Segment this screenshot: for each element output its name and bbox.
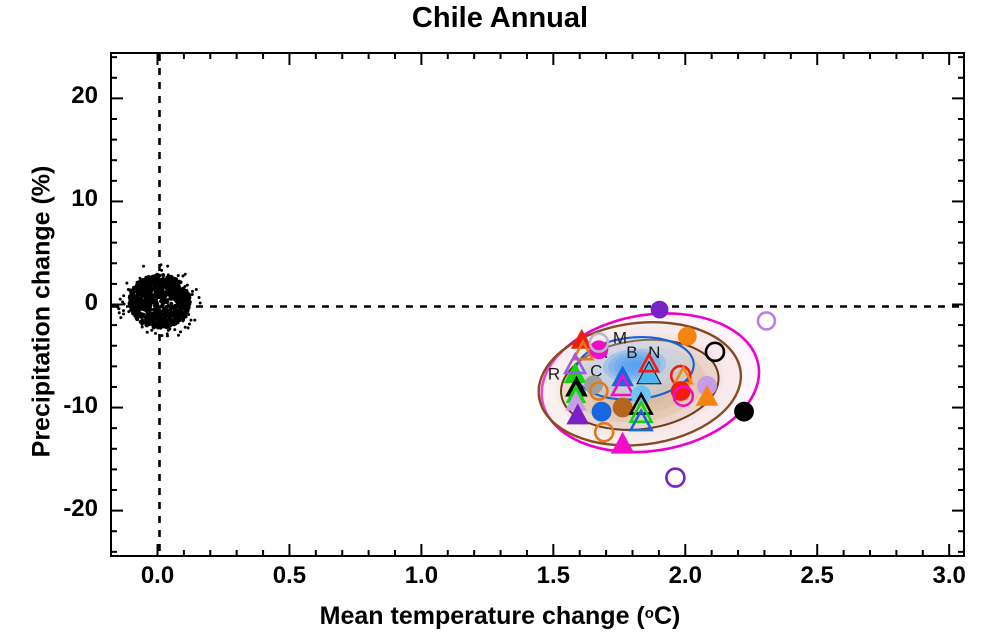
cluster-letter-B: B	[626, 343, 637, 362]
cluster-letter-N: N	[648, 343, 660, 362]
control-point	[156, 321, 160, 325]
xtick-label: 2.0	[645, 562, 725, 590]
control-point	[130, 302, 134, 306]
control-point-outlier	[188, 323, 191, 326]
control-point	[174, 278, 178, 282]
control-point	[161, 277, 165, 281]
control-point-outlier	[184, 273, 187, 276]
control-point-outlier	[166, 332, 169, 335]
cluster-letter-M: M	[613, 329, 627, 348]
control-point-outlier	[122, 313, 125, 316]
control-point-outlier	[193, 319, 196, 322]
control-point-outlier	[154, 332, 157, 335]
cluster-letter-R: R	[548, 365, 560, 384]
purple-open-circle-bottom[interactable]	[666, 469, 684, 487]
control-point-outlier	[168, 328, 171, 331]
black-filled-circle-right[interactable]	[735, 402, 754, 421]
control-point	[152, 313, 156, 317]
control-point-outlier	[160, 334, 163, 337]
control-point	[147, 322, 151, 326]
control-point	[167, 310, 171, 314]
control-point	[145, 293, 149, 297]
control-point-outlier	[187, 326, 190, 329]
page-title: Chile Annual	[0, 2, 1000, 35]
control-point	[154, 274, 158, 278]
control-point	[136, 310, 140, 314]
control-point-outlier	[173, 328, 176, 331]
xtick-label: 3.0	[909, 562, 989, 590]
xtick-label: 0.0	[118, 562, 198, 590]
scatter-canvas: MBANCR	[112, 54, 963, 555]
plot-area: MBANCR	[110, 52, 965, 557]
control-point	[141, 288, 145, 292]
control-point-outlier	[150, 329, 153, 332]
blue-filled-circle[interactable]	[592, 402, 611, 421]
control-point	[161, 273, 165, 277]
control-point	[169, 285, 173, 289]
control-point	[132, 286, 136, 290]
control-point-outlier	[188, 302, 191, 305]
control-point-outlier	[184, 326, 187, 329]
control-point	[176, 321, 180, 325]
control-point	[143, 299, 147, 303]
control-point	[129, 293, 133, 297]
control-point-outlier	[122, 294, 125, 297]
control-point	[182, 295, 186, 299]
control-point	[149, 308, 153, 312]
control-point-outlier	[118, 311, 121, 314]
control-point	[157, 315, 161, 319]
control-point-outlier	[199, 302, 202, 305]
control-point	[153, 279, 157, 283]
control-point-outlier	[187, 313, 190, 316]
control-point	[164, 324, 168, 328]
control-point	[148, 276, 152, 280]
control-point	[156, 283, 160, 287]
xtick-label: 1.0	[381, 562, 461, 590]
control-point	[161, 309, 165, 313]
control-point-outlier	[189, 319, 192, 322]
control-point	[178, 306, 182, 310]
control-point	[141, 292, 145, 296]
control-point-outlier	[122, 309, 125, 312]
control-point	[171, 291, 175, 295]
control-point	[175, 300, 179, 304]
control-point-outlier	[166, 265, 169, 268]
control-point-outlier	[191, 290, 194, 293]
control-point	[162, 299, 166, 303]
control-point	[157, 292, 161, 296]
control-point	[177, 288, 181, 292]
control-point	[146, 312, 150, 316]
control-point-outlier	[127, 310, 130, 313]
control-point	[177, 285, 181, 289]
control-point	[135, 317, 139, 321]
control-point	[152, 325, 156, 329]
control-point	[177, 296, 181, 300]
control-point	[166, 276, 170, 280]
control-point-outlier	[159, 263, 162, 266]
control-point	[150, 296, 154, 300]
control-point	[175, 310, 179, 314]
control-point-outlier	[142, 265, 145, 268]
y-axis-label: Precipitation change (%)	[28, 52, 57, 572]
control-point	[165, 305, 169, 309]
control-point	[160, 304, 164, 308]
control-point	[160, 290, 164, 294]
chart-figure: Chile Annual MBANCR 0.00.51.01.52.02.53.…	[0, 0, 1000, 644]
control-point	[168, 314, 172, 318]
control-point-outlier	[119, 316, 122, 319]
control-point-outlier	[123, 302, 126, 305]
control-point-outlier	[188, 306, 191, 309]
control-point	[174, 286, 178, 290]
control-point	[164, 312, 168, 316]
control-point	[153, 292, 157, 296]
control-point	[170, 318, 174, 322]
control-point-outlier	[125, 282, 128, 285]
control-point	[134, 303, 138, 307]
control-point	[147, 303, 151, 307]
control-point	[146, 308, 150, 312]
internal-variability-cloud	[116, 263, 201, 337]
control-point-outlier	[160, 269, 163, 272]
control-point	[139, 313, 143, 317]
control-point	[154, 309, 158, 313]
control-point-outlier	[167, 273, 170, 276]
control-point-outlier	[141, 325, 144, 328]
control-point	[137, 305, 141, 309]
control-point-outlier	[119, 298, 122, 301]
control-point	[148, 285, 152, 289]
degree-symbol: o	[645, 605, 654, 622]
control-point-outlier	[177, 334, 180, 337]
plot-inner: MBANCR	[112, 54, 963, 555]
control-point	[170, 305, 174, 309]
lightpurple-open-circle-right[interactable]	[758, 312, 775, 329]
control-point	[155, 289, 159, 293]
control-point-outlier	[191, 293, 194, 296]
control-point	[133, 295, 137, 299]
control-point-outlier	[195, 288, 198, 291]
control-point-outlier	[177, 274, 180, 277]
control-point	[164, 282, 168, 286]
control-point	[184, 309, 188, 313]
control-point-outlier	[185, 315, 188, 318]
control-point-outlier	[138, 277, 141, 280]
control-point	[143, 281, 147, 285]
xtick-label: 1.5	[513, 562, 593, 590]
control-point	[179, 300, 183, 304]
control-point-outlier	[179, 330, 182, 333]
orange-filled-circle-right[interactable]	[678, 327, 696, 345]
control-point-outlier	[146, 331, 149, 334]
control-point	[155, 302, 159, 306]
control-point	[169, 297, 173, 301]
control-point	[138, 297, 142, 301]
control-point	[187, 296, 191, 300]
xtick-label: 0.5	[249, 562, 329, 590]
xtick-label: 2.5	[777, 562, 857, 590]
control-point	[137, 290, 141, 294]
control-point-outlier	[186, 284, 189, 287]
control-point-outlier	[116, 306, 119, 309]
control-point-outlier	[129, 288, 132, 291]
control-point	[146, 296, 150, 300]
purple-filled-circle-top[interactable]	[651, 301, 668, 318]
control-point-outlier	[198, 296, 201, 299]
control-point	[132, 309, 136, 313]
control-point	[171, 281, 175, 285]
x-axis-label: Mean temperature change (oC)	[0, 602, 1000, 631]
control-point-outlier	[141, 323, 144, 326]
control-point	[149, 289, 153, 293]
control-point-outlier	[136, 281, 139, 284]
control-point	[183, 302, 187, 306]
control-point	[152, 320, 156, 324]
control-point	[165, 300, 169, 304]
